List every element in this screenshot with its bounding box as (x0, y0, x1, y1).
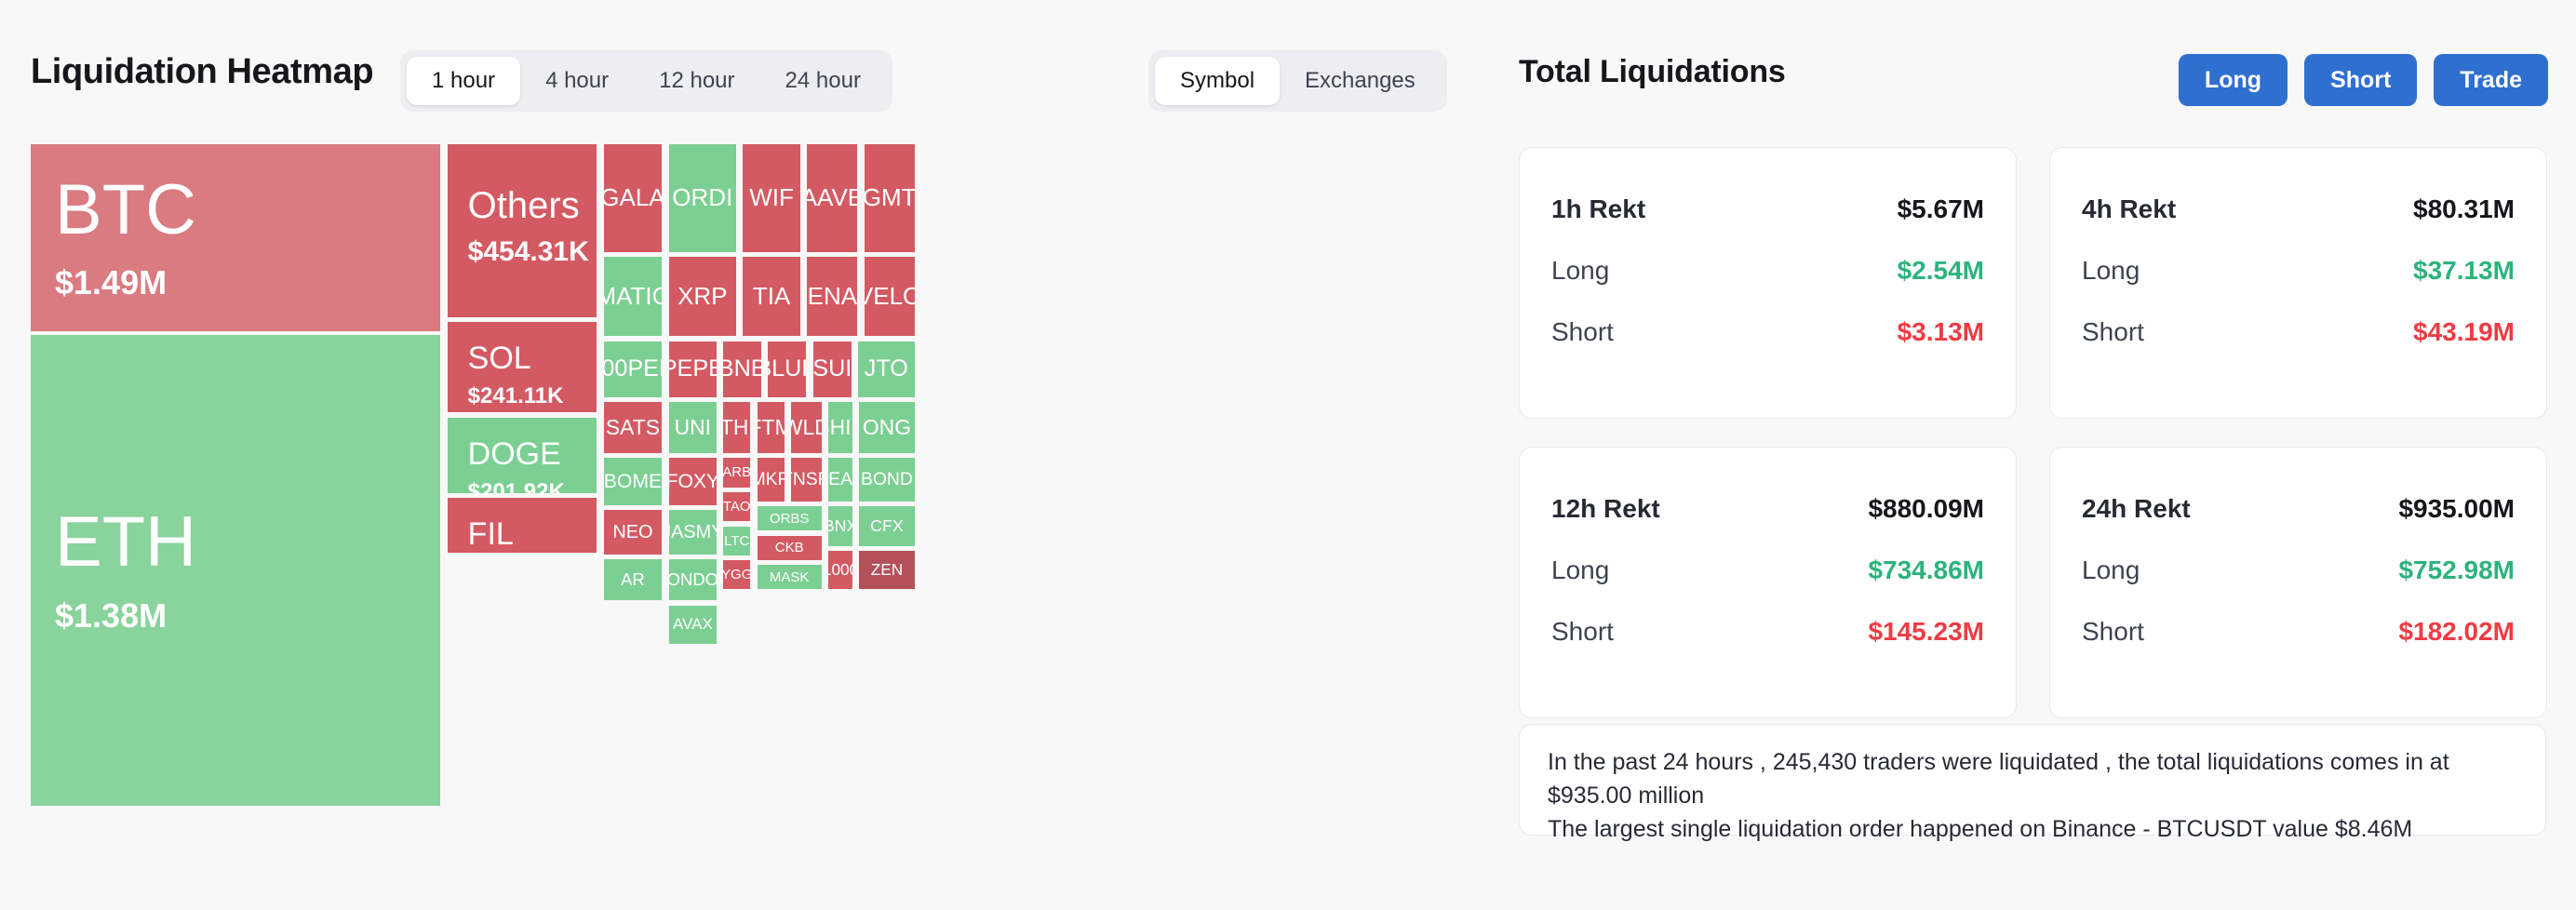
treemap-tile-ckb[interactable]: CKB (758, 536, 822, 560)
tile-symbol: JASMY (669, 522, 717, 543)
stat-row: Short$145.23M (1551, 617, 1984, 647)
long-value: $752.98M (2398, 555, 2515, 585)
treemap-tile-eth[interactable]: ETH$1.38M (31, 335, 440, 806)
treemap-tile-blur[interactable]: BLUR (768, 341, 806, 397)
tile-symbol: BNX (828, 516, 852, 536)
tile-symbol: CFX (870, 516, 904, 536)
tile-symbol: MATIC (604, 282, 662, 311)
stat-label: Short (2082, 617, 2144, 647)
action-buttons: LongShortTrade (2179, 54, 2548, 106)
tile-symbol: GMT (865, 183, 915, 212)
short-value: $145.23M (1868, 617, 1984, 647)
tile-value: $241.11K (468, 383, 597, 409)
short-value: $182.02M (2398, 617, 2515, 647)
treemap-tile-bome[interactable]: BOME (604, 458, 662, 504)
tile-symbol: UNI (675, 415, 711, 440)
treemap-tile-tnsr[interactable]: TNSR (791, 458, 822, 501)
page-header: Liquidation Heatmap 1 hour4 hour12 hour2… (0, 0, 2576, 140)
tab-12-hour[interactable]: 12 hour (634, 57, 759, 105)
tile-symbol: TAO (723, 499, 750, 515)
tile-symbol: Others (468, 186, 597, 225)
tab-symbol[interactable]: Symbol (1155, 57, 1280, 105)
treemap-tile-ar[interactable]: AR (604, 559, 662, 600)
tile-symbol: XRP (678, 282, 727, 311)
treemap-tile-avax[interactable]: AVAX (669, 606, 717, 644)
treemap-tile-cfx[interactable]: CFX (859, 506, 914, 545)
treemap-tile-wld[interactable]: WLD (791, 402, 822, 452)
stat-total-value: $80.31M (2413, 194, 2515, 224)
treemap-tile-ltc[interactable]: LTC (723, 527, 750, 555)
treemap-tile-wif[interactable]: WIF (743, 144, 800, 252)
tile-symbol: CKB (775, 540, 804, 555)
treemap-tile-arb[interactable]: ARB (723, 458, 750, 487)
stat-row: Short$182.02M (2082, 617, 2515, 647)
tile-value: $201.92K (468, 479, 597, 493)
tile-symbol: NEAR (828, 469, 852, 490)
tile-symbol: BLUR (768, 355, 806, 382)
tile-symbol: ETH (55, 505, 440, 580)
tile-symbol: SATS (606, 415, 660, 440)
tile-symbol: 1000 (828, 560, 852, 580)
grouping-tabs[interactable]: SymbolExchanges (1148, 50, 1447, 112)
tile-symbol: FTM (758, 415, 785, 440)
stat-card-24h: 24h Rekt$935.00MLong$752.98MShort$182.02… (2049, 447, 2547, 718)
tile-symbol: PEPE (669, 355, 717, 382)
treemap-tile-btc[interactable]: BTC$1.49M (31, 144, 440, 331)
stat-total-value: $5.67M (1898, 194, 1984, 224)
tile-symbol: GALA (604, 183, 662, 212)
tile-symbol: FIL (468, 518, 597, 552)
tile-symbol: 1000PEPE (604, 355, 662, 382)
stat-total-value: $935.00M (2398, 494, 2515, 524)
trade-button[interactable]: Trade (2434, 54, 2548, 106)
summary-line-2: The largest single liquidation order hap… (1548, 812, 2517, 846)
stat-card-4h: 4h Rekt$80.31MLong$37.13MShort$43.19M (2049, 147, 2547, 419)
treemap-tile-ethfi[interactable]: ETHFI (723, 402, 750, 452)
tile-symbol: ONDO (669, 569, 717, 590)
treemap-tile-others[interactable]: Others$454.31K (448, 144, 597, 317)
tile-symbol: LTC (724, 533, 749, 549)
tile-symbol: SHIB (828, 415, 852, 440)
long-button[interactable]: Long (2179, 54, 2288, 106)
treemap-tile-foxy[interactable]: FOXY (669, 458, 717, 504)
treemap-tile-matic[interactable]: MATIC (604, 257, 662, 336)
stat-label: Short (2082, 317, 2144, 347)
treemap-tile-sui[interactable]: SUI (813, 341, 852, 397)
timeframe-tabs[interactable]: 1 hour4 hour12 hour24 hour (400, 50, 892, 112)
tile-symbol: AR (621, 569, 645, 590)
tile-symbol: YGG (723, 567, 750, 582)
treemap-tile-pepe[interactable]: PEPE (669, 341, 717, 397)
tile-symbol: SUI (813, 355, 852, 382)
tile-symbol: FOXY (669, 471, 717, 493)
summary-card: In the past 24 hours , 245,430 traders w… (1519, 724, 2546, 836)
treemap-tile-xrp[interactable]: XRP (669, 257, 736, 336)
treemap-tile-uni[interactable]: UNI (669, 402, 717, 452)
treemap-tile-bnx[interactable]: BNX (828, 506, 852, 545)
tile-symbol: BOME (604, 471, 662, 493)
stat-label: Short (1551, 317, 1614, 347)
tile-symbol: WLD (791, 415, 822, 440)
stat-card-12h: 12h Rekt$880.09MLong$734.86MShort$145.23… (1519, 447, 2017, 718)
treemap-tile-doge[interactable]: DOGE$201.92K (448, 418, 597, 493)
tile-symbol: ETHFI (723, 415, 750, 440)
tile-symbol: ZEN (871, 560, 903, 580)
tile-symbol: ONG (863, 415, 911, 440)
treemap-tile-jasmy[interactable]: JASMY (669, 510, 717, 554)
short-value: $43.19M (2413, 317, 2515, 347)
stat-row: 4h Rekt$80.31M (2082, 194, 2515, 224)
stat-row: Long$752.98M (2082, 555, 2515, 585)
treemap-tile-ftm[interactable]: FTM (758, 402, 785, 452)
tab-exchanges[interactable]: Exchanges (1280, 57, 1441, 105)
tile-symbol: DOGE (468, 438, 597, 472)
stat-row: Long$37.13M (2082, 256, 2515, 286)
treemap-tile-mask[interactable]: MASK (758, 565, 822, 589)
tile-symbol: AVAX (673, 615, 713, 634)
short-value: $3.13M (1898, 317, 1984, 347)
tile-symbol: TIA (753, 282, 790, 311)
treemap-tile-tia[interactable]: TIA (743, 257, 800, 336)
stat-label: Long (2082, 256, 2140, 286)
treemap-tile-1000pepe[interactable]: 1000PEPE (604, 341, 662, 397)
tile-symbol: BNB (723, 355, 761, 382)
treemap-tile-mkr[interactable]: MKR (758, 458, 785, 501)
stat-label: Long (1551, 555, 1609, 585)
tile-symbol: WIF (749, 183, 794, 212)
tile-symbol: NEO (612, 522, 652, 543)
stat-row: Short$43.19M (2082, 317, 2515, 347)
treemap-tile-ordi[interactable]: ORDI (669, 144, 736, 252)
page-title: Liquidation Heatmap (31, 52, 373, 92)
tile-symbol: BTC (55, 173, 440, 248)
stat-row: Short$3.13M (1551, 317, 1984, 347)
treemap-tile-sats[interactable]: SATS (604, 402, 662, 452)
tile-value: $1.49M (55, 263, 440, 302)
tab-24-hour[interactable]: 24 hour (760, 57, 886, 105)
stat-row: 1h Rekt$5.67M (1551, 194, 1984, 224)
tile-symbol: MASK (770, 569, 810, 585)
summary-line-1: In the past 24 hours , 245,430 traders w… (1548, 745, 2517, 812)
tile-symbol: VELO (865, 282, 915, 311)
short-button[interactable]: Short (2304, 54, 2417, 106)
treemap-tile-bond[interactable]: BOND (859, 458, 914, 501)
tile-symbol: MKR (758, 469, 785, 490)
total-liquidations-title: Total Liquidations (1519, 54, 1786, 90)
tile-symbol: JTO (865, 355, 908, 382)
treemap-tile-shib[interactable]: SHIB (828, 402, 852, 452)
treemap-tile-gala[interactable]: GALA (604, 144, 662, 252)
treemap-tile-fil[interactable]: FIL$148.44K (448, 498, 597, 552)
treemap-tile-near[interactable]: NEAR (828, 458, 852, 501)
tile-symbol: BOND (861, 469, 913, 490)
stat-title: 4h Rekt (2082, 194, 2176, 224)
stat-row: Long$2.54M (1551, 256, 1984, 286)
treemap-tile-ygg[interactable]: YGG (723, 560, 750, 589)
treemap-tile-ena[interactable]: ENA (807, 257, 857, 336)
stat-title: 1h Rekt (1551, 194, 1645, 224)
long-value: $734.86M (1868, 555, 1984, 585)
tab-4-hour[interactable]: 4 hour (520, 57, 634, 105)
treemap-tile-velo[interactable]: VELO (865, 257, 915, 336)
stat-title: 12h Rekt (1551, 494, 1660, 524)
treemap-tile-gmt[interactable]: GMT (865, 144, 915, 252)
treemap-tile-jto[interactable]: JTO (858, 341, 914, 397)
liquidation-treemap[interactable]: BTC$1.49METH$1.38MOthers$454.31KSOL$241.… (31, 144, 1495, 810)
stat-row: 12h Rekt$880.09M (1551, 494, 1984, 524)
stat-label: Short (1551, 617, 1614, 647)
treemap-tile-sol[interactable]: SOL$241.11K (448, 322, 597, 412)
treemap-tile-neo[interactable]: NEO (604, 510, 662, 554)
stat-total-value: $880.09M (1868, 494, 1984, 524)
treemap-tile-orbs[interactable]: ORBS (758, 506, 822, 530)
tile-symbol: ARB (723, 464, 750, 480)
tile-symbol: TNSR (791, 469, 822, 490)
tile-symbol: ORBS (770, 511, 810, 527)
stat-label: Long (1551, 256, 1609, 286)
tile-symbol: ORDI (672, 183, 732, 212)
tile-symbol: ENA (808, 282, 857, 311)
treemap-tile-ong[interactable]: ONG (859, 402, 914, 452)
stat-label: Long (2082, 555, 2140, 585)
tile-symbol: SOL (468, 342, 597, 376)
stat-row: 24h Rekt$935.00M (2082, 494, 2515, 524)
long-value: $2.54M (1898, 256, 1984, 286)
stat-title: 24h Rekt (2082, 494, 2191, 524)
treemap-tile-zen[interactable]: ZEN (859, 551, 914, 589)
tile-value: $1.38M (55, 596, 440, 636)
treemap-tile-ondo[interactable]: ONDO (669, 559, 717, 600)
treemap-tile-tao[interactable]: TAO (723, 492, 750, 521)
stat-card-1h: 1h Rekt$5.67MLong$2.54MShort$3.13M (1519, 147, 2017, 419)
treemap-tile-1000[interactable]: 1000 (828, 551, 852, 589)
stat-row: Long$734.86M (1551, 555, 1984, 585)
tile-symbol: AAVE (807, 183, 857, 212)
tile-value: $454.31K (468, 236, 597, 268)
tab-1-hour[interactable]: 1 hour (407, 57, 520, 105)
long-value: $37.13M (2413, 256, 2515, 286)
treemap-tile-aave[interactable]: AAVE (807, 144, 857, 252)
treemap-tile-bnb[interactable]: BNB (723, 341, 761, 397)
